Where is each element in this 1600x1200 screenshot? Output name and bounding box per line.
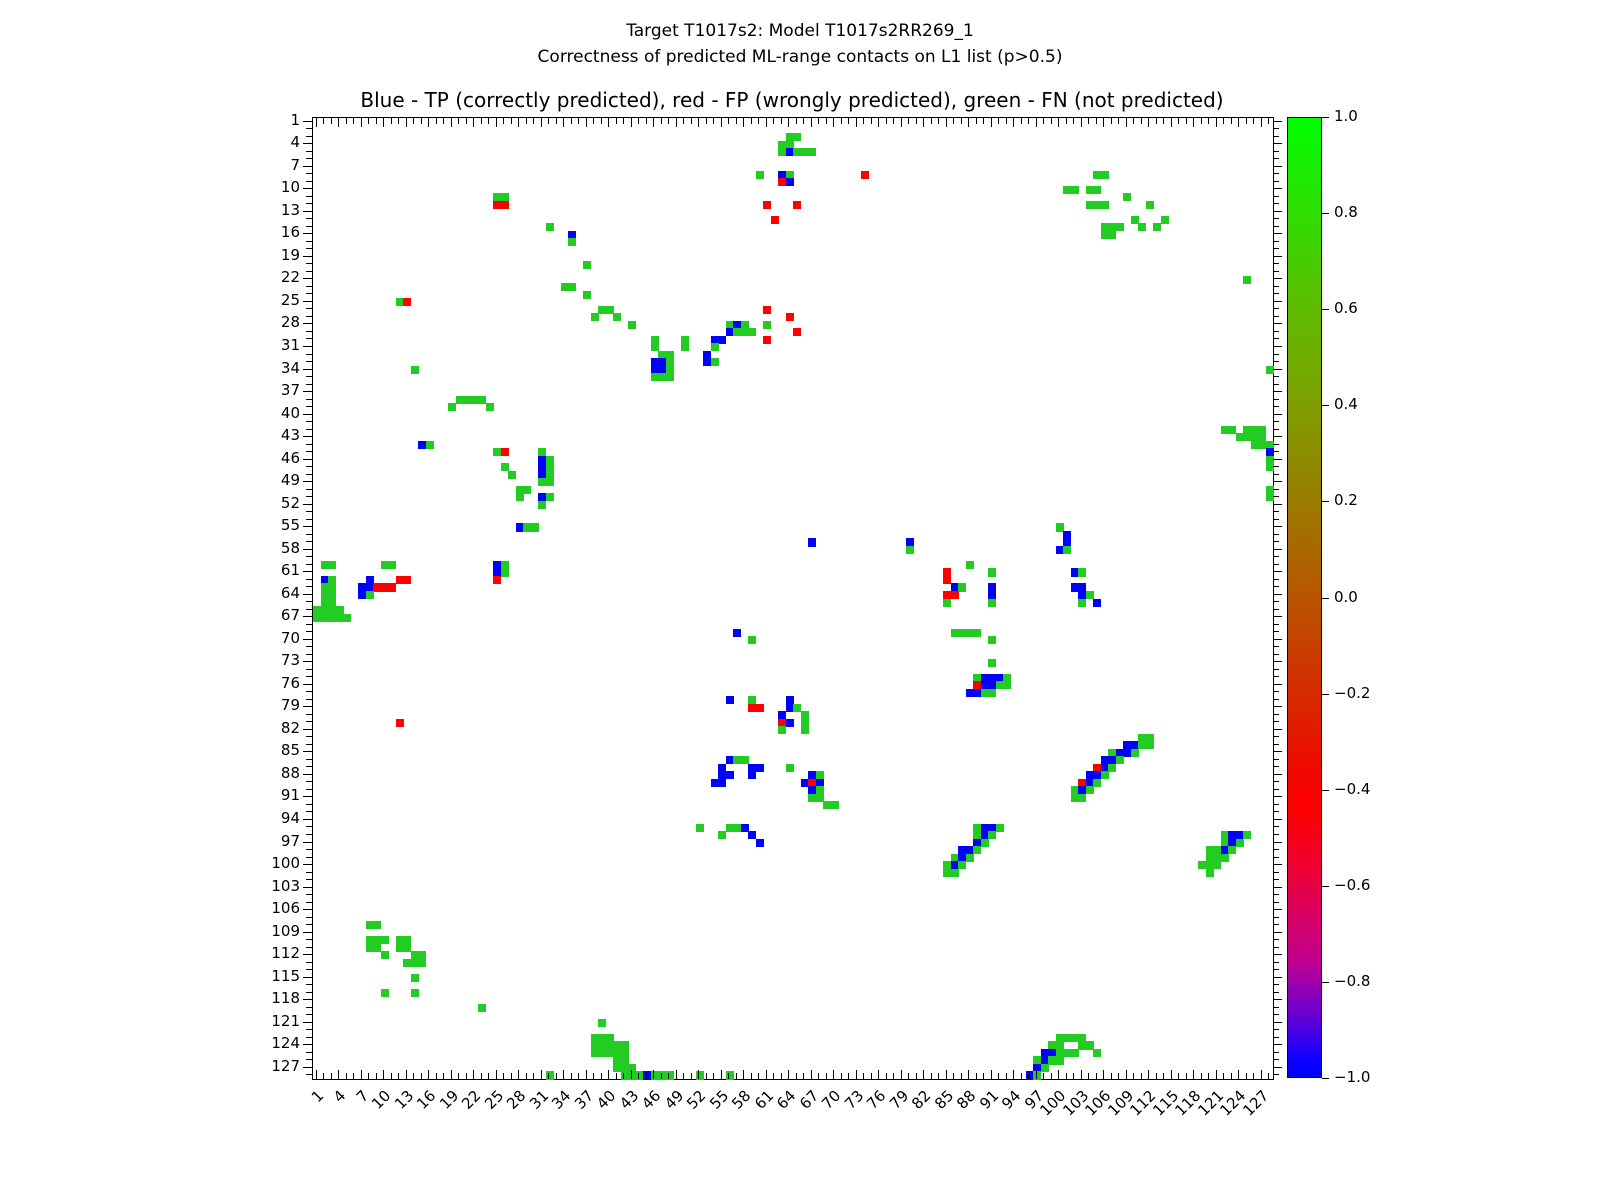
y-tick (303, 121, 312, 122)
contact-cell (808, 538, 816, 546)
y-tick-label: 64 (252, 586, 300, 601)
y-tick-label: 16 (252, 225, 300, 240)
x-tick-top (706, 118, 707, 124)
contact-cell (973, 846, 981, 854)
y-tick (306, 631, 312, 632)
y-tick (306, 489, 312, 490)
x-tick-top (451, 118, 452, 127)
contact-cell (1093, 779, 1101, 787)
contact-cell (516, 493, 524, 501)
y-tick (306, 474, 312, 475)
x-tick (1186, 1073, 1187, 1079)
y-tick-label: 58 (252, 541, 300, 556)
y-tick-right (1273, 263, 1279, 264)
x-tick (1028, 1073, 1029, 1079)
y-tick-right (1273, 939, 1279, 940)
x-tick (361, 1070, 362, 1079)
x-tick (1171, 1070, 1172, 1079)
x-tick-top (1096, 118, 1097, 124)
x-tick-top (1156, 118, 1157, 124)
x-tick-top (878, 118, 879, 127)
x-tick-top (1231, 118, 1232, 124)
y-tick-right (1273, 1022, 1282, 1023)
y-tick (306, 1007, 312, 1008)
contact-cell (1221, 854, 1229, 862)
colorbar-tick (1322, 886, 1329, 887)
y-tick (303, 278, 312, 279)
contact-cell (478, 1004, 486, 1012)
y-tick (303, 932, 312, 933)
x-tick (923, 1070, 924, 1079)
contact-cell (1116, 223, 1124, 231)
contact-cell (801, 726, 809, 734)
contact-cell (1056, 1056, 1064, 1064)
y-tick-right (1273, 826, 1279, 827)
y-tick (303, 594, 312, 595)
x-tick-top (1051, 118, 1052, 124)
y-tick-right (1273, 323, 1282, 324)
x-tick-top (316, 118, 317, 127)
x-tick (601, 1073, 602, 1079)
y-tick-right (1273, 721, 1279, 722)
y-tick (306, 158, 312, 159)
y-tick (306, 826, 312, 827)
contact-cell (1131, 749, 1139, 757)
y-tick (306, 586, 312, 587)
contact-cell (1123, 193, 1131, 201)
y-tick-right (1273, 331, 1279, 332)
y-tick-right (1273, 766, 1279, 767)
x-tick (1013, 1070, 1014, 1079)
y-tick-right (1273, 954, 1282, 955)
x-tick-top (533, 118, 534, 124)
x-tick-top (908, 118, 909, 124)
x-tick-top (1171, 118, 1172, 127)
y-tick-label: 112 (252, 946, 300, 961)
x-tick (893, 1073, 894, 1079)
y-tick-right (1273, 489, 1279, 490)
y-tick-right (1273, 1037, 1279, 1038)
x-tick (908, 1073, 909, 1079)
contact-cell (568, 283, 576, 291)
x-tick-top (1081, 118, 1082, 127)
y-tick (303, 414, 312, 415)
y-tick (306, 624, 312, 625)
y-tick-right (1273, 248, 1279, 249)
contact-cell (1063, 546, 1071, 554)
contact-cell (726, 1071, 734, 1079)
x-tick (368, 1073, 369, 1079)
x-tick (563, 1070, 564, 1079)
x-tick (976, 1073, 977, 1079)
contact-cell (718, 336, 726, 344)
contact-cell (1078, 794, 1086, 802)
x-tick-top (1246, 118, 1247, 124)
contact-cell (808, 148, 816, 156)
contact-cell (1146, 201, 1154, 209)
contact-cell (1101, 201, 1109, 209)
contact-cell (411, 974, 419, 982)
y-tick-label: 127 (252, 1059, 300, 1074)
contact-cell (988, 659, 996, 667)
y-tick-right (1273, 917, 1279, 918)
y-tick (306, 376, 312, 377)
y-tick (306, 857, 312, 858)
y-tick (306, 721, 312, 722)
contact-cell (958, 861, 966, 869)
y-tick-right (1273, 338, 1279, 339)
x-tick-top (983, 118, 984, 124)
x-tick-top (556, 118, 557, 124)
x-tick (998, 1073, 999, 1079)
y-tick-right (1273, 759, 1279, 760)
x-tick (473, 1070, 474, 1079)
contact-cell (388, 583, 396, 591)
x-tick-top (916, 118, 917, 124)
x-tick-top (728, 118, 729, 124)
contact-cell (943, 599, 951, 607)
y-tick-right (1273, 887, 1282, 888)
y-tick (303, 954, 312, 955)
y-tick (303, 323, 312, 324)
x-tick-top (398, 118, 399, 124)
y-tick (306, 534, 312, 535)
colorbar-tick (1322, 501, 1329, 502)
contact-cell (1266, 463, 1274, 471)
y-tick (306, 579, 312, 580)
x-tick (661, 1073, 662, 1079)
x-tick (1193, 1070, 1194, 1079)
contact-cell (1041, 1064, 1049, 1072)
y-tick-label: 40 (252, 406, 300, 421)
y-tick-label: 76 (252, 676, 300, 691)
y-tick (306, 331, 312, 332)
x-tick-top (766, 118, 767, 127)
y-tick-right (1273, 902, 1279, 903)
contact-cell (793, 133, 801, 141)
x-tick-top (646, 118, 647, 124)
y-tick (306, 263, 312, 264)
x-tick-top (593, 118, 594, 124)
y-tick-right (1273, 421, 1279, 422)
contact-cell (583, 261, 591, 269)
x-tick (1043, 1073, 1044, 1079)
contact-cell (1101, 771, 1109, 779)
y-tick-right (1273, 406, 1279, 407)
x-tick-top (608, 118, 609, 127)
y-tick-right (1273, 286, 1279, 287)
x-tick (1141, 1073, 1142, 1079)
x-tick-top (841, 118, 842, 124)
x-tick (871, 1073, 872, 1079)
x-tick (451, 1070, 452, 1079)
contact-cell (538, 501, 546, 509)
x-tick (331, 1073, 332, 1079)
y-tick-right (1273, 391, 1282, 392)
x-tick (811, 1070, 812, 1079)
contact-cell (763, 336, 771, 344)
x-tick-top (511, 118, 512, 124)
y-tick (303, 774, 312, 775)
y-tick-label: 10 (252, 180, 300, 195)
contact-cell (861, 171, 869, 179)
y-tick (303, 459, 312, 460)
y-tick-right (1273, 736, 1279, 737)
contact-cell (448, 403, 456, 411)
contact-cell (951, 869, 959, 877)
x-tick (383, 1070, 384, 1079)
suptitle-line-2: Correctness of predicted ML-range contac… (0, 44, 1600, 70)
contact-cell (343, 614, 351, 622)
y-tick (303, 842, 312, 843)
x-tick-top (1111, 118, 1112, 124)
x-tick-top (826, 118, 827, 124)
y-tick (303, 864, 312, 865)
contact-cell (966, 561, 974, 569)
contact-cell (763, 321, 771, 329)
contact-cell (628, 321, 636, 329)
x-tick-top (1201, 118, 1202, 124)
x-tick (398, 1073, 399, 1079)
x-tick (668, 1073, 669, 1079)
y-tick (306, 218, 312, 219)
y-tick (306, 511, 312, 512)
y-tick (306, 714, 312, 715)
colorbar-tick-label: 0.4 (1334, 397, 1358, 412)
y-tick-label: 19 (252, 248, 300, 263)
y-tick-right (1273, 241, 1279, 242)
x-tick (638, 1073, 639, 1079)
y-tick (306, 947, 312, 948)
contact-cell (403, 298, 411, 306)
x-tick-top (353, 118, 354, 124)
y-tick-right (1273, 661, 1282, 662)
colorbar-tick (1322, 1078, 1329, 1079)
x-tick (803, 1073, 804, 1079)
x-tick (946, 1070, 947, 1079)
x-tick (901, 1070, 902, 1079)
x-tick (548, 1073, 549, 1079)
x-tick-top (488, 118, 489, 124)
y-tick (306, 736, 312, 737)
y-tick-right (1273, 256, 1282, 257)
y-tick (306, 136, 312, 137)
x-tick-top (953, 118, 954, 124)
contact-cell (966, 854, 974, 862)
y-tick (303, 616, 312, 617)
x-tick (443, 1073, 444, 1079)
y-tick-right (1273, 181, 1279, 182)
y-tick-right (1273, 444, 1279, 445)
contact-cell (546, 478, 554, 486)
y-tick (306, 969, 312, 970)
y-tick-right (1273, 196, 1279, 197)
y-tick-right (1273, 541, 1279, 542)
x-tick (751, 1073, 752, 1079)
y-tick (303, 1067, 312, 1068)
x-tick-top (871, 118, 872, 124)
y-tick (303, 1022, 312, 1023)
x-tick (466, 1073, 467, 1079)
y-tick (303, 684, 312, 685)
y-tick-right (1273, 1044, 1282, 1045)
x-tick (1178, 1073, 1179, 1079)
x-tick-top (938, 118, 939, 124)
contact-cell (1086, 786, 1094, 794)
contact-cell (681, 343, 689, 351)
contact-cell (1101, 171, 1109, 179)
contact-map-plot[interactable] (312, 117, 1274, 1080)
contact-cell (988, 689, 996, 697)
contact-cell (546, 1071, 554, 1079)
y-tick (303, 549, 312, 550)
y-tick (306, 646, 312, 647)
contact-cell (591, 313, 599, 321)
contact-cell (328, 561, 336, 569)
y-tick-right (1273, 849, 1279, 850)
contact-cell (958, 583, 966, 591)
y-tick-right (1273, 977, 1282, 978)
contact-cell (1003, 681, 1011, 689)
x-tick-top (458, 118, 459, 124)
contact-cell (493, 576, 501, 584)
x-tick-top (541, 118, 542, 127)
y-tick (303, 571, 312, 572)
x-tick (428, 1070, 429, 1079)
y-tick (306, 939, 312, 940)
y-tick (306, 466, 312, 467)
contact-cell (831, 801, 839, 809)
x-tick-top (976, 118, 977, 124)
y-tick-label: 88 (252, 766, 300, 781)
y-tick-right (1273, 369, 1282, 370)
y-tick (306, 1052, 312, 1053)
y-tick-label: 34 (252, 361, 300, 376)
y-tick-right (1273, 804, 1279, 805)
y-tick-right (1273, 744, 1279, 745)
x-tick-top (856, 118, 857, 127)
y-tick-right (1273, 872, 1279, 873)
x-tick (623, 1073, 624, 1079)
y-tick-right (1273, 293, 1279, 294)
y-tick (306, 361, 312, 362)
x-tick (848, 1073, 849, 1079)
contact-cell (1108, 231, 1116, 239)
x-tick-top (623, 118, 624, 124)
x-tick-top (796, 118, 797, 124)
y-tick (303, 819, 312, 820)
y-tick-label: 52 (252, 496, 300, 511)
y-tick-right (1273, 436, 1282, 437)
contact-cell (403, 576, 411, 584)
x-tick (511, 1073, 512, 1079)
y-tick-label: 31 (252, 338, 300, 353)
x-tick-top (923, 118, 924, 127)
y-tick-label: 43 (252, 428, 300, 443)
x-tick-top (1193, 118, 1194, 127)
x-tick-top (1253, 118, 1254, 124)
y-tick-right (1273, 579, 1279, 580)
x-tick (683, 1073, 684, 1079)
x-tick-top (383, 118, 384, 127)
y-tick-right (1273, 504, 1282, 505)
x-tick (496, 1070, 497, 1079)
y-tick (303, 436, 312, 437)
y-tick (306, 984, 312, 985)
x-tick-top (436, 118, 437, 124)
contact-cell (1093, 1049, 1101, 1057)
x-tick-top (1223, 118, 1224, 124)
x-tick (736, 1073, 737, 1079)
x-tick (556, 1073, 557, 1079)
x-tick (743, 1070, 744, 1079)
y-tick (306, 286, 312, 287)
y-tick (306, 917, 312, 918)
contact-cell (1138, 223, 1146, 231)
y-tick-label: 70 (252, 631, 300, 646)
y-tick-right (1273, 271, 1279, 272)
contact-cell (793, 328, 801, 336)
x-tick-top (781, 118, 782, 124)
contact-cell (546, 493, 554, 501)
y-tick (306, 902, 312, 903)
x-tick-top (376, 118, 377, 124)
x-tick (983, 1073, 984, 1079)
x-tick (1268, 1073, 1269, 1079)
x-tick (353, 1073, 354, 1079)
y-tick-right (1273, 601, 1279, 602)
x-tick-top (968, 118, 969, 127)
contact-cell (973, 629, 981, 637)
contact-map-cells (313, 118, 1273, 1079)
colorbar-tick (1322, 982, 1329, 983)
x-tick (1238, 1070, 1239, 1079)
y-tick (303, 796, 312, 797)
y-tick (306, 241, 312, 242)
x-tick (788, 1070, 789, 1079)
contact-cell (531, 523, 539, 531)
contact-cell (501, 568, 509, 576)
contact-cell (981, 839, 989, 847)
contact-cell (388, 561, 396, 569)
y-tick-right (1273, 556, 1279, 557)
y-tick-right (1273, 203, 1279, 204)
y-tick (303, 999, 312, 1000)
x-tick-top (1006, 118, 1007, 124)
contact-cell (786, 719, 794, 727)
contact-cell (756, 764, 764, 772)
contact-cell (786, 313, 794, 321)
contact-cell (1228, 846, 1236, 854)
x-tick-top (323, 118, 324, 124)
y-tick (303, 729, 312, 730)
y-tick (303, 143, 312, 144)
y-tick (306, 196, 312, 197)
y-tick (306, 399, 312, 400)
x-tick (766, 1070, 767, 1079)
figure-suptitle: Target T1017s2: Model T1017s2RR269_1 Cor… (0, 18, 1600, 70)
contact-cell (718, 831, 726, 839)
contact-cell (756, 704, 764, 712)
x-tick (886, 1073, 887, 1079)
x-tick-top (331, 118, 332, 124)
colorbar-tick-label: 0.2 (1334, 493, 1358, 508)
y-tick-right (1273, 316, 1279, 317)
y-tick (306, 759, 312, 760)
contact-cell (748, 636, 756, 644)
x-tick-top (586, 118, 587, 127)
y-tick-right (1273, 361, 1279, 362)
